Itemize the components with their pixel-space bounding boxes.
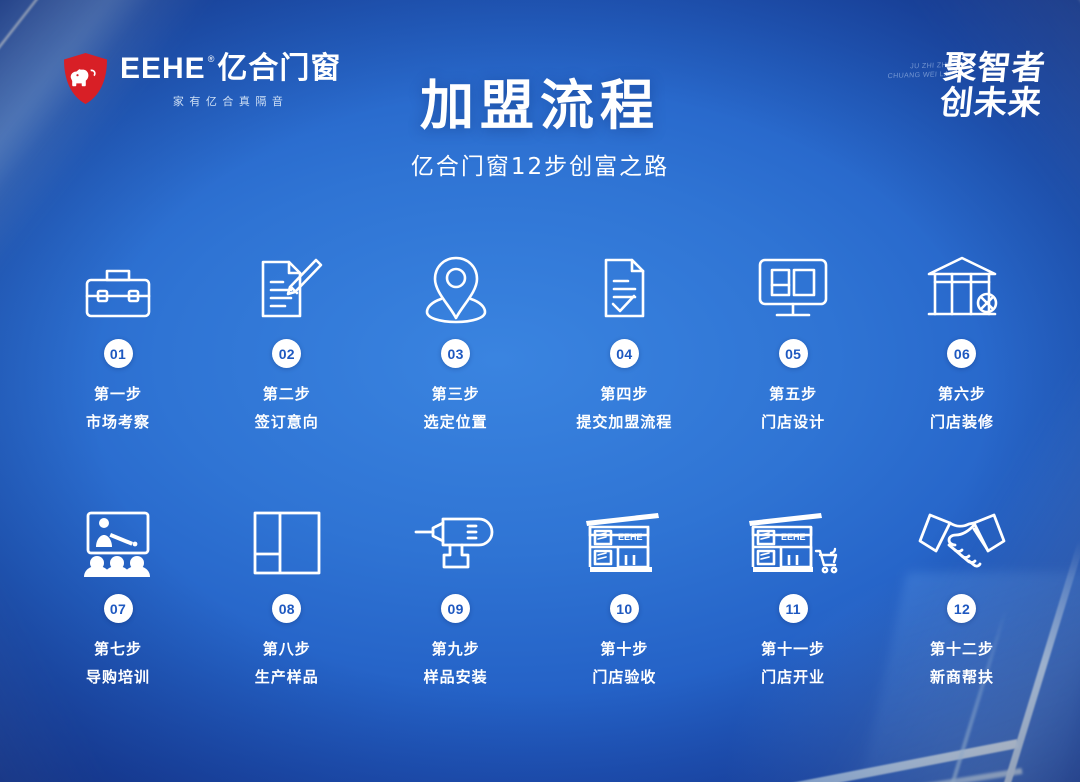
step-label: 第五步 bbox=[769, 383, 817, 404]
step-card-07[interactable]: 07 第七步 导购培训 bbox=[34, 487, 202, 687]
step-card-01[interactable]: 01 第一步 市场考察 bbox=[34, 232, 202, 432]
step-label: 第七步 bbox=[94, 638, 142, 659]
steps-grid: 01 第一步 市场考察 bbox=[34, 232, 1046, 687]
page-header: 加盟流程 亿合门窗12步创富之路 bbox=[0, 78, 1080, 181]
step-card-04[interactable]: 04 第四步 提交加盟流程 bbox=[540, 232, 708, 432]
step-card-11[interactable]: EEHE 11 bbox=[709, 487, 877, 687]
step-label: 第三步 bbox=[432, 383, 480, 404]
step-label: 第八步 bbox=[263, 638, 311, 659]
step-card-03[interactable]: 03 第三步 选定位置 bbox=[372, 232, 540, 432]
step-number: 01 bbox=[104, 339, 133, 368]
step-label: 第九步 bbox=[432, 638, 480, 659]
step-desc: 市场考察 bbox=[86, 411, 150, 432]
poster-canvas: EEHE ® 亿合门窗 家有亿合真隔音 聚智者 创未来 JU ZHI ZHE C… bbox=[0, 0, 1080, 782]
document-check-icon bbox=[587, 232, 661, 324]
handshake-icon bbox=[916, 487, 1008, 579]
step-number: 03 bbox=[441, 339, 470, 368]
document-pen-icon bbox=[250, 232, 324, 324]
steps-row-2: 07 第七步 导购培训 08 第八步 生产样品 bbox=[34, 487, 1046, 687]
step-card-12[interactable]: 12 第十二步 新商帮扶 bbox=[878, 487, 1046, 687]
logo-trademark: ® bbox=[208, 55, 215, 64]
step-number: 12 bbox=[947, 594, 976, 623]
light-beam-2 bbox=[409, 768, 1022, 782]
step-desc: 门店开业 bbox=[761, 666, 825, 687]
step-number: 02 bbox=[272, 339, 301, 368]
step-card-02[interactable]: 02 第二步 签订意向 bbox=[203, 232, 371, 432]
training-board-icon bbox=[78, 487, 158, 579]
monitor-design-icon bbox=[753, 232, 833, 324]
step-desc: 导购培训 bbox=[86, 666, 150, 687]
step-number: 06 bbox=[947, 339, 976, 368]
location-pin-icon bbox=[419, 232, 493, 324]
step-number: 04 bbox=[610, 339, 639, 368]
step-number: 08 bbox=[272, 594, 301, 623]
storefront-tools-icon bbox=[923, 232, 1001, 324]
page-title: 加盟流程 bbox=[0, 78, 1080, 135]
step-label: 第一步 bbox=[94, 383, 142, 404]
store-cart-icon: EEHE bbox=[745, 487, 841, 579]
step-desc: 新商帮扶 bbox=[930, 666, 994, 687]
step-card-08[interactable]: 08 第八步 生产样品 bbox=[203, 487, 371, 687]
store-building-icon: EEHE bbox=[580, 487, 668, 579]
step-card-09[interactable]: 09 第九步 样品安装 bbox=[372, 487, 540, 687]
step-desc: 门店设计 bbox=[761, 411, 825, 432]
step-desc: 门店装修 bbox=[930, 411, 994, 432]
store-sign-text: EEHE bbox=[618, 532, 643, 542]
step-label: 第四步 bbox=[600, 383, 648, 404]
step-desc: 样品安装 bbox=[424, 666, 488, 687]
step-number: 07 bbox=[104, 594, 133, 623]
drill-icon bbox=[413, 487, 499, 579]
step-desc: 签订意向 bbox=[255, 411, 319, 432]
page-subtitle: 亿合门窗12步创富之路 bbox=[0, 147, 1080, 181]
window-panel-icon bbox=[250, 487, 324, 579]
briefcase-icon bbox=[81, 232, 155, 324]
step-desc: 提交加盟流程 bbox=[576, 411, 672, 432]
step-number: 05 bbox=[779, 339, 808, 368]
step-desc: 门店验收 bbox=[592, 666, 656, 687]
store-sign-text: EEHE bbox=[781, 532, 806, 542]
step-label: 第十一步 bbox=[761, 638, 825, 659]
step-desc: 生产样品 bbox=[255, 666, 319, 687]
step-number: 11 bbox=[779, 594, 808, 623]
step-label: 第十二步 bbox=[930, 638, 994, 659]
step-label: 第十步 bbox=[600, 638, 648, 659]
step-desc: 选定位置 bbox=[424, 411, 488, 432]
light-beam-1 bbox=[507, 739, 1019, 782]
step-number: 10 bbox=[610, 594, 639, 623]
steps-row-1: 01 第一步 市场考察 bbox=[34, 232, 1046, 432]
step-card-06[interactable]: 06 第六步 门店装修 bbox=[878, 232, 1046, 432]
step-number: 09 bbox=[441, 594, 470, 623]
step-card-10[interactable]: EEHE 10 第十步 门店验收 bbox=[540, 487, 708, 687]
step-card-05[interactable]: 05 第五步 门店设计 bbox=[709, 232, 877, 432]
step-label: 第六步 bbox=[938, 383, 986, 404]
step-label: 第二步 bbox=[263, 383, 311, 404]
